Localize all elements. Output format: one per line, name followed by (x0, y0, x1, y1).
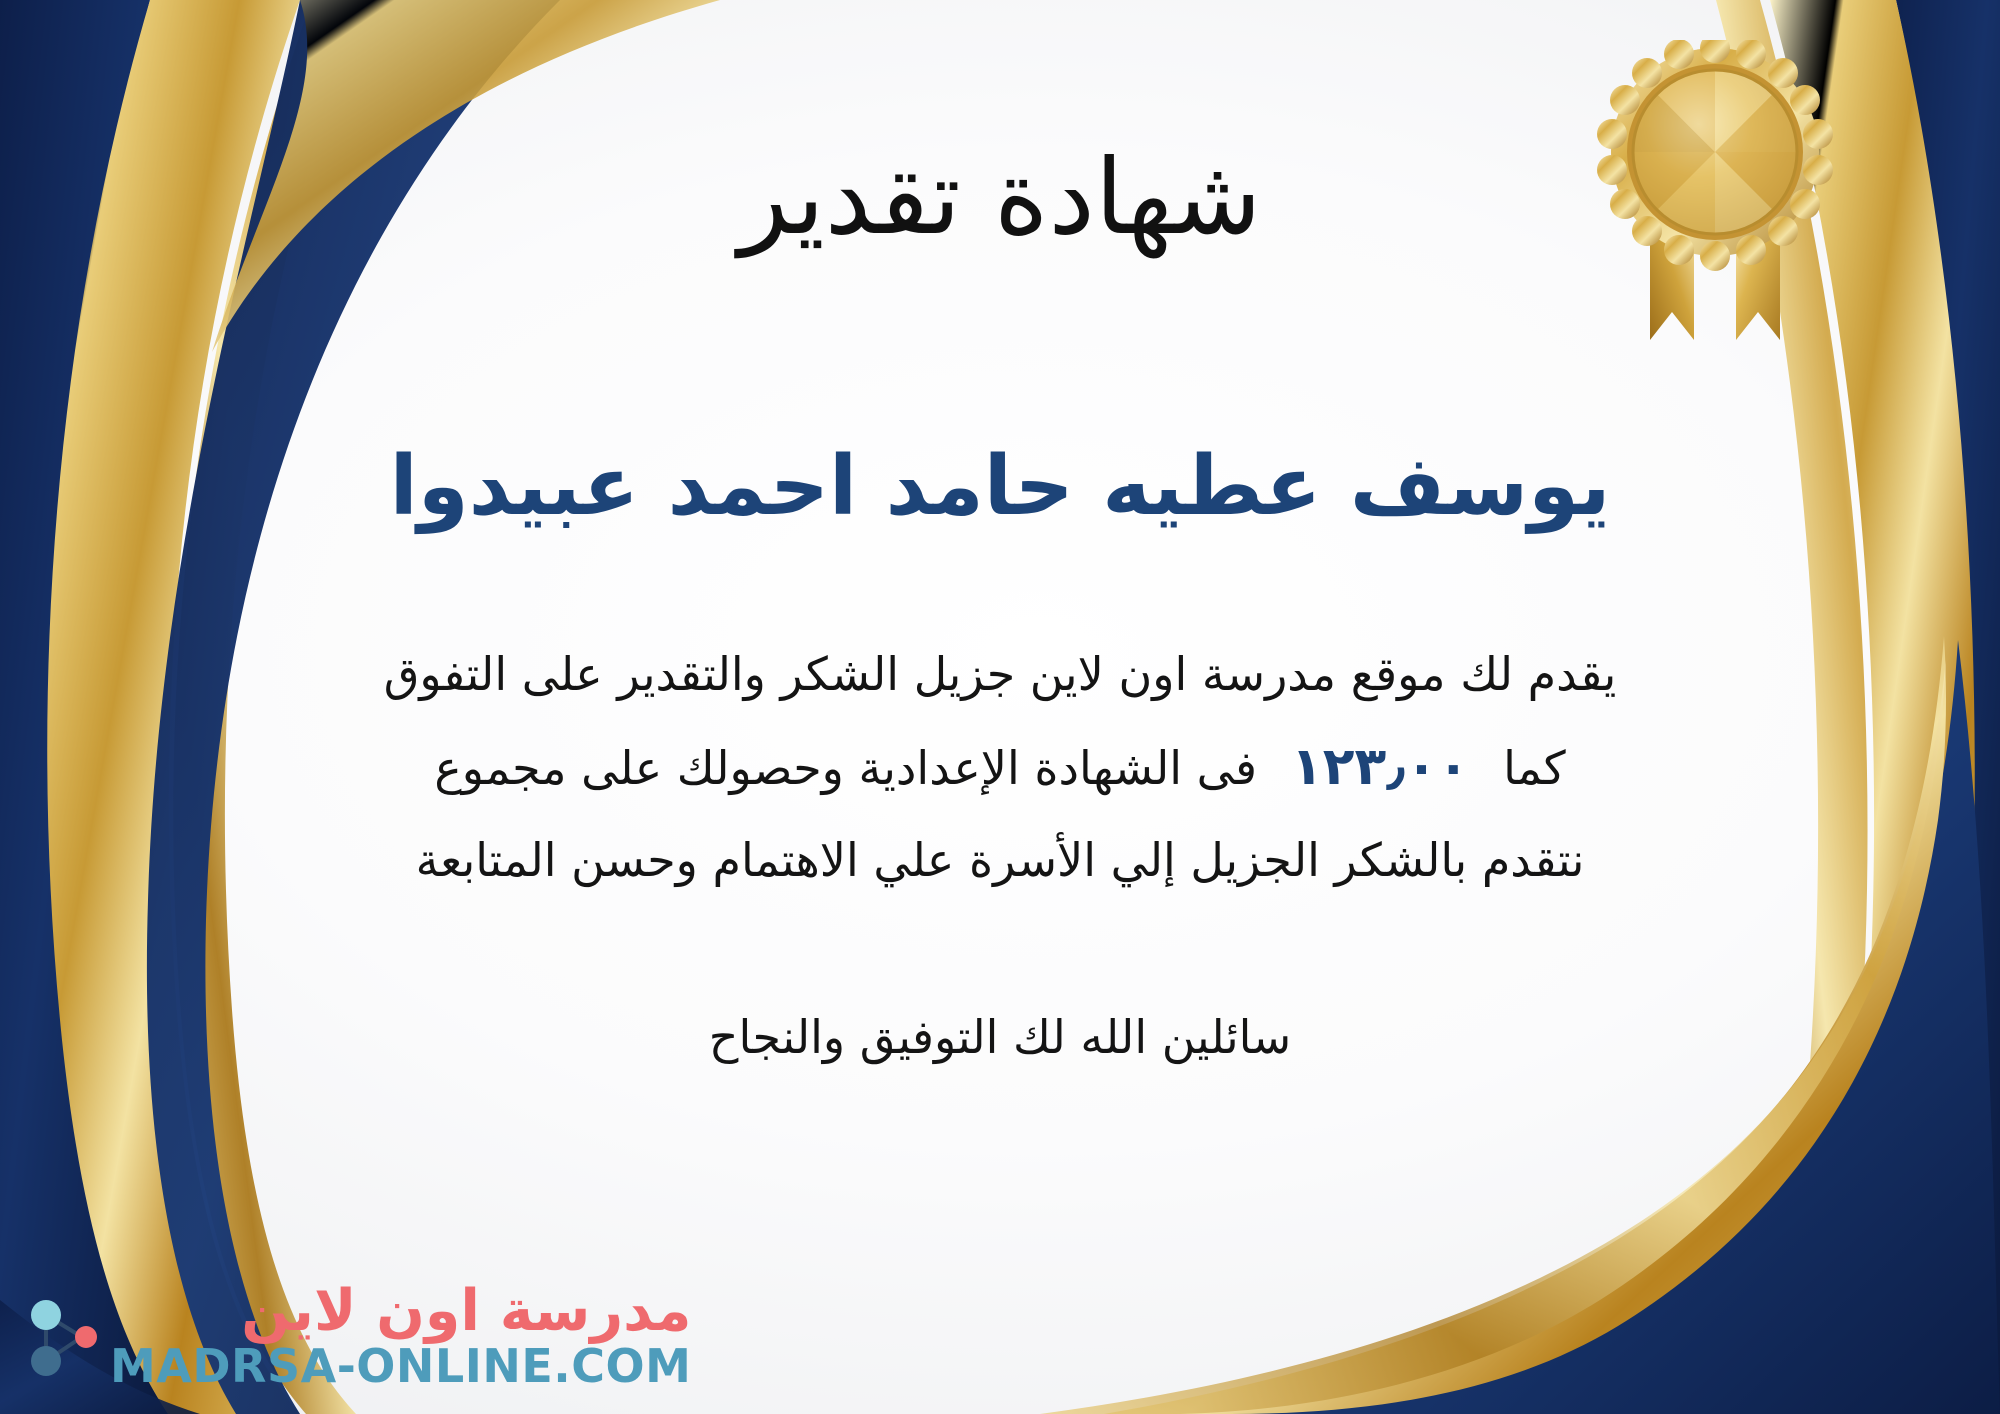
closing-line: سائلين الله لك التوفيق والنجاح (709, 996, 1291, 1079)
total-score-value: ١٢٣٫٠٠ (1257, 718, 1503, 817)
brand-logo[interactable]: مدرسة اون لاين MADRSA-ONLINE.COM (26, 1282, 691, 1392)
gold-medal-rosette-icon (1590, 40, 1840, 360)
body-line-3: نتقدم بالشكر الجزيل إلي الأسرة علي الاهت… (290, 817, 1710, 904)
body-line-2: فى الشهادة الإعدادية وحصولك على مجموع ١٢… (290, 718, 1710, 817)
certificate-body: يقدم لك موقع مدرسة اون لاين جزيل الشكر و… (250, 631, 1750, 905)
page-title: شهادة تقدير (738, 140, 1261, 254)
brand-arabic-name: مدرسة اون لاين (241, 1282, 691, 1342)
network-nodes-icon (26, 1291, 100, 1383)
certificate-canvas: شهادة تقدير يوسف عطيه حامد احمد عبيدوا ي… (0, 0, 2000, 1414)
body-line-2-suffix: كما (1503, 725, 1566, 812)
body-line-2-prefix: فى الشهادة الإعدادية وحصولك على مجموع (434, 725, 1257, 812)
brand-text: مدرسة اون لاين MADRSA-ONLINE.COM (110, 1282, 691, 1392)
recipient-name: يوسف عطيه حامد احمد عبيدوا (270, 440, 1731, 534)
brand-website: MADRSA-ONLINE.COM (110, 1341, 691, 1392)
body-line-1: يقدم لك موقع مدرسة اون لاين جزيل الشكر و… (290, 631, 1710, 718)
